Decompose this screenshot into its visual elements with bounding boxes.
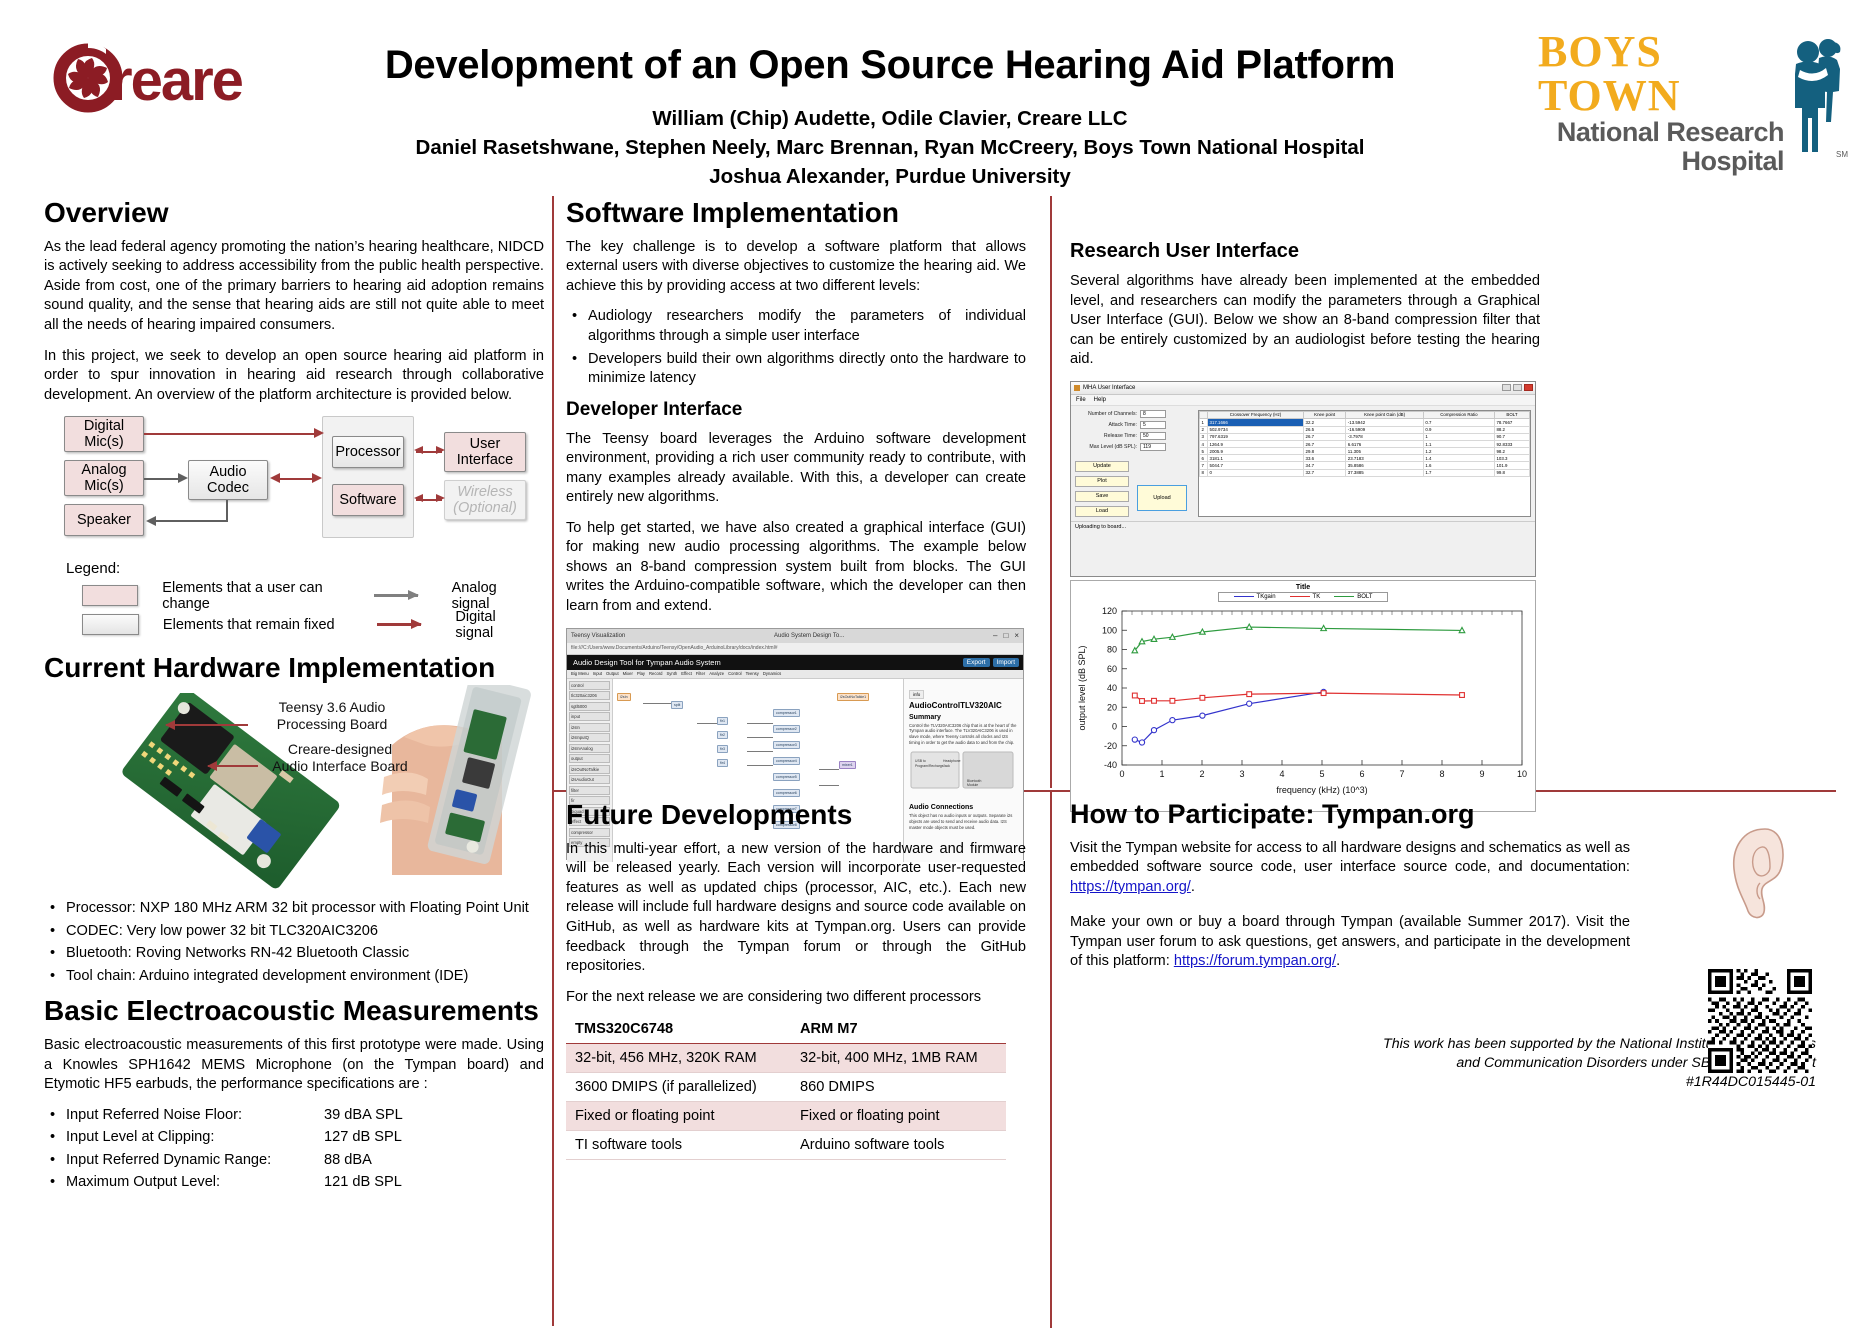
label-number-of-channels: Number of Channels: [1075, 411, 1137, 417]
palette-item-0[interactable]: control [569, 681, 610, 690]
table-row: Fixed or floating point Fixed or floatin… [566, 1102, 1006, 1131]
grid-cell-r0c3[interactable]: -13.5942 [1346, 419, 1424, 426]
palette-item-2[interactable]: sgtl5000 [569, 702, 610, 711]
legend-label-digital-signal: Digital signal [455, 609, 536, 641]
legend-row-fixed: Elements that remain fixed Digital signa… [66, 610, 536, 639]
mha-user-interface-screenshot[interactable]: MHA User Interface File Help Number of C… [1070, 381, 1536, 577]
left-column: Overview As the lead federal agency prom… [44, 198, 544, 1203]
info-summary-text: Control the TLV320AIC3206 chip that is a… [909, 723, 1018, 746]
menu-item-9[interactable]: Analyze [709, 671, 724, 676]
grid-cell-r5c3[interactable]: 23.7183 [1346, 455, 1424, 462]
info-summary-heading: Summary [909, 714, 1018, 721]
diagram-legend: Legend: Elements that a user can change … [66, 560, 536, 639]
grid-cell-r0c1[interactable]: 317.1666 [1208, 419, 1304, 426]
grid-cell-r4c2[interactable]: 29.8 [1304, 448, 1346, 455]
svg-text:100: 100 [1102, 625, 1117, 635]
grid-cell-r7c2[interactable]: 32.7 [1304, 469, 1346, 476]
menu-item-8[interactable]: Filter [696, 671, 705, 676]
software-paragraph-1: The key challenge is to develop a softwa… [566, 238, 1026, 297]
palette-item-6[interactable]: i2sInAnalog [569, 744, 610, 753]
plot-svg: -40-20020406080100120012345678910frequen… [1074, 603, 1534, 799]
plot-button[interactable]: Plot [1075, 476, 1129, 487]
load-button[interactable]: Load [1075, 506, 1129, 517]
hardware-bullet-bluetooth: Bluetooth: Roving Networks RN-42 Bluetoo… [44, 944, 544, 964]
menu-item-10[interactable]: Control [728, 671, 742, 676]
palette-item-1[interactable]: tlc320aic3206 [569, 691, 610, 700]
grid-cell-r5c5[interactable]: 103.3 [1494, 455, 1529, 462]
canvas-wire-3 [747, 737, 773, 738]
canvas-block-input[interactable]: i2sIn [617, 693, 631, 701]
spec-noise-floor-label: Input Referred Noise Floor: [66, 1106, 324, 1126]
speaker-label: Speaker [77, 512, 131, 529]
mha-window-title: MHA User Interface [1083, 385, 1135, 391]
grid-row[interactable]: 2502.973426.5-16.59090.988.2 [1200, 426, 1530, 433]
grid-cell-r3c3[interactable]: 6.6176 [1346, 440, 1424, 447]
legend-swatch-grey [82, 614, 139, 635]
legend-line-tkgain [1234, 596, 1254, 598]
menu-item-5[interactable]: Record [649, 671, 663, 676]
digital-mic-label-2: Mic(s) [84, 434, 123, 450]
palette-item-4[interactable]: i2sIn [569, 723, 610, 732]
title-block: Development of an Open Source Hearing Ai… [300, 42, 1480, 191]
grid-cell-r5c0[interactable]: 6 [1200, 455, 1208, 462]
design-tool-menu-strip: Big Menu Input Output Mixer Play Record … [567, 670, 1023, 679]
grid-row[interactable]: 41264.926.76.61761.192.8333 [1200, 440, 1530, 447]
arrow-codec-processor-bidirectional [278, 478, 314, 480]
grid-cell-r0c2[interactable]: 32.2 [1304, 419, 1346, 426]
canvas-block-comp-6[interactable]: compressor6 [773, 789, 800, 797]
center-column-upper: Software Implementation The key challeng… [566, 198, 1026, 860]
palette-item-10[interactable]: filter [569, 786, 610, 795]
audio-codec-label-1: Audio [209, 464, 246, 480]
minimize-icon[interactable]: – [993, 631, 997, 640]
menu-item-0[interactable]: Big Menu [571, 671, 589, 676]
spec-clipping-label: Input Level at Clipping: [66, 1128, 324, 1148]
cell-r3c1: Arduino software tools [791, 1131, 1006, 1160]
menu-item-6[interactable]: Synth [667, 671, 678, 676]
svg-text:20: 20 [1107, 702, 1117, 712]
grid-cell-r5c2[interactable]: 33.6 [1304, 455, 1346, 462]
legend-label-user-changeable: Elements that a user can change [162, 580, 373, 612]
palette-item-9[interactable]: i2sAudioOut [569, 775, 610, 784]
authors-line-1: William (Chip) Audette, Odile Clavier, C… [300, 104, 1480, 133]
arrowhead-analog-mic [178, 473, 188, 483]
mha-maximize-icon[interactable] [1513, 384, 1522, 391]
legend-label-fixed: Elements that remain fixed [163, 617, 377, 633]
tympan-org-link[interactable]: https://tympan.org/ [1070, 879, 1191, 895]
grid-row[interactable]: 52005.929.811.3051.298.2 [1200, 448, 1530, 455]
audio-codec-label-2: Codec [207, 480, 249, 496]
grid-cell-r6c0[interactable]: 7 [1200, 462, 1208, 469]
diagram-node-user-interface: User Interface [444, 432, 526, 472]
legend-line-tk [1290, 596, 1310, 598]
canvas-block-filter-3[interactable]: fir3 [717, 745, 728, 753]
grid-cell-r1c1[interactable]: 502.9734 [1208, 426, 1304, 433]
mha-minimize-icon[interactable] [1502, 384, 1511, 391]
save-button[interactable]: Save [1075, 491, 1129, 502]
svg-text:6: 6 [1359, 769, 1364, 779]
future-heading: Future Developments [566, 800, 1026, 831]
processor-comparison-table: TMS320C6748 ARM M7 32-bit, 456 MHz, 320K… [566, 1015, 1006, 1160]
maximize-icon[interactable]: □ [1003, 631, 1008, 640]
svg-text:Module: Module [967, 783, 978, 787]
spec-max-output: Maximum Output Level: 121 dB SPL [44, 1173, 544, 1193]
grid-cell-r3c0[interactable]: 4 [1200, 440, 1208, 447]
mha-parameter-panel: Number of Channels: 8 Attack Time: 5 Rel… [1075, 410, 1193, 517]
funding-line-2: and Communication Disorders under SBIR P… [1070, 1054, 1816, 1073]
canvas-block-mixer[interactable]: mixer1 [839, 761, 856, 769]
menu-item-11[interactable]: Teensy [746, 671, 759, 676]
info-device-thumbnail: USB to Program/Recharge Headphone Jack B… [909, 748, 1017, 792]
poster-header: reare Development of an Open Source Hear… [0, 0, 1864, 205]
grid-row[interactable]: 75044.734.735.85861.6101.9 [1200, 462, 1530, 469]
spec-clipping-value: 127 dB SPL [324, 1128, 402, 1148]
authors-line-3: Joshua Alexander, Purdue University [300, 162, 1480, 191]
arrowhead-wireless-left [414, 494, 423, 502]
field-max-level[interactable]: Max Level (dB SPL): 119 [1075, 443, 1193, 451]
grid-row[interactable]: 1317.166632.2-13.59420.778.7667 [1200, 419, 1530, 426]
overview-heading: Overview [44, 198, 544, 229]
legend-item-tkgain: TKgain [1234, 594, 1276, 600]
grid-cell-r2c3[interactable]: -3.7978 [1346, 433, 1424, 440]
table-header-tms: TMS320C6748 [566, 1015, 791, 1044]
svg-text:Jack: Jack [943, 764, 950, 768]
participate-p2-text: Make your own or buy a board through Tym… [1070, 914, 1630, 969]
diagram-node-software: Software [332, 484, 404, 516]
input-number-of-channels[interactable]: 8 [1140, 410, 1166, 418]
mha-titlebar: MHA User Interface [1071, 382, 1535, 395]
grid-cell-r4c1[interactable]: 2005.9 [1208, 448, 1304, 455]
future-paragraph-1: In this multi-year effort, a new version… [566, 840, 1026, 977]
divider-center-right-lower [1050, 790, 1052, 1328]
grid-cell-r6c4[interactable]: 1.6 [1423, 462, 1494, 469]
callout-interface-line2: Audio Interface Board [250, 758, 430, 776]
legend-swatch-pink [82, 585, 138, 606]
svg-text:60: 60 [1107, 663, 1117, 673]
hardware-bullet-codec: CODEC: Very low power 32 bit TLC320AIC32… [44, 922, 544, 942]
grid-cell-r2c2[interactable]: 26.7 [1304, 433, 1346, 440]
grid-cell-r1c2[interactable]: 26.5 [1304, 426, 1346, 433]
svg-text:0: 0 [1119, 769, 1124, 779]
grid-header-4: BOLT [1494, 411, 1529, 419]
hardware-heading: Current Hardware Implementation [44, 653, 544, 684]
arrowhead-ui-left [414, 446, 423, 454]
menu-item-12[interactable]: Dynamics [763, 671, 781, 676]
palette-item-3[interactable]: input [569, 712, 610, 721]
diagram-node-speaker: Speaker [64, 504, 144, 536]
arrow-analog-mic-to-codec [144, 478, 180, 480]
qr-code[interactable] [1708, 969, 1812, 1073]
field-number-of-channels[interactable]: Number of Channels: 8 [1075, 410, 1193, 418]
participate-p2-period: . [1336, 953, 1340, 969]
wireless-label-2: (Optional) [453, 500, 517, 516]
canvas-wire-1 [697, 723, 717, 724]
svg-text:0: 0 [1112, 721, 1117, 731]
boystown-nrh-line2: Hospital [1538, 147, 1784, 176]
browser-url-text: file:///C:/Users/www.Documents/Arduino/T… [571, 645, 778, 651]
callout-teensy-line2: Processing Board [252, 716, 412, 734]
grid-cell-r3c1[interactable]: 1264.9 [1208, 440, 1304, 447]
software-bullet-list: Audiology researchers modify the paramet… [566, 307, 1026, 388]
import-button[interactable]: Import [993, 658, 1019, 667]
callout-teensy-board: Teensy 3.6 Audio Processing Board [252, 699, 412, 734]
mha-parameter-grid[interactable]: Crossover Frequency (Hz) Knee point Knee… [1198, 410, 1531, 517]
grid-cell-r7c4[interactable]: 1.7 [1423, 469, 1494, 476]
grid-cell-r7c3[interactable]: 37.3885 [1346, 469, 1424, 476]
funding-line-1: This work has been supported by the Nati… [1070, 1035, 1816, 1054]
canvas-block-filter-2[interactable]: fir2 [717, 731, 728, 739]
legend-title: Legend: [66, 560, 536, 577]
field-release-time[interactable]: Release Time: 50 [1075, 432, 1193, 440]
legend-label-analog-signal: Analog signal [452, 580, 536, 612]
cell-r0c1: 32-bit, 400 MHz, 1MB RAM [791, 1044, 1006, 1073]
cell-r2c1: Fixed or floating point [791, 1102, 1006, 1131]
hardware-photos: Teensy 3.6 Audio Processing Board Creare… [44, 693, 544, 893]
callout-line-teensy [166, 724, 248, 726]
grid-cell-r1c4[interactable]: 0.9 [1423, 426, 1494, 433]
svg-text:120: 120 [1102, 606, 1117, 616]
label-attack-time: Attack Time: [1075, 422, 1137, 428]
canvas-wire-2 [747, 723, 773, 724]
canvas-block-comp-3[interactable]: compressor3 [773, 741, 800, 749]
grid-cell-r1c3[interactable]: -16.5909 [1346, 426, 1424, 433]
input-max-level[interactable]: 119 [1140, 443, 1166, 451]
canvas-block-comp-2[interactable]: compressor2 [773, 725, 800, 733]
grid-cell-r5c4[interactable]: 1.4 [1423, 455, 1494, 462]
svg-text:USB to: USB to [915, 759, 926, 763]
grid-cell-r6c3[interactable]: 35.8586 [1346, 462, 1424, 469]
grid-cell-r4c0[interactable]: 5 [1200, 448, 1208, 455]
canvas-block-comp-4[interactable]: compressor4 [773, 757, 800, 765]
grid-cell-r1c5[interactable]: 88.2 [1494, 426, 1529, 433]
software-heading: Software Implementation [566, 198, 1026, 229]
compression-plot: Title TKgain TK BOLT -40-200204060801001… [1070, 580, 1536, 812]
table-row: 3600 DMIPS (if parallelized) 860 DMIPS [566, 1073, 1006, 1102]
diagram-node-analog-mic: Analog Mic(s) [64, 460, 144, 496]
arrow-digital-mic-to-processor [144, 433, 314, 435]
cell-r0c0: 32-bit, 456 MHz, 320K RAM [566, 1044, 791, 1073]
canvas-block-comp-5[interactable]: compressor5 [773, 773, 800, 781]
analog-signal-arrow-icon [374, 594, 418, 597]
right-column-upper: Research User Interface Several algorith… [1070, 240, 1540, 812]
grid-cell-r3c2[interactable]: 26.7 [1304, 440, 1346, 447]
canvas-block-split[interactable]: split [671, 701, 683, 709]
close-icon[interactable]: × [1014, 631, 1019, 640]
svg-text:Program/Recharge: Program/Recharge [915, 764, 944, 768]
palette-item-5[interactable]: i2sInputQ [569, 733, 610, 742]
grid-cell-r6c2[interactable]: 34.7 [1304, 462, 1346, 469]
user-interface-label-2: Interface [457, 452, 513, 468]
arrow-codec-to-speaker-vertical [226, 500, 228, 522]
grid-cell-r1c0[interactable]: 2 [1200, 426, 1208, 433]
svg-text:9: 9 [1479, 769, 1484, 779]
legend-row-user-changeable: Elements that a user can change Analog s… [66, 581, 536, 610]
browser-titlebar: Teensy Visualization Audio System Design… [567, 629, 1023, 643]
arrowhead-ui-right [436, 446, 445, 454]
svg-text:7: 7 [1399, 769, 1404, 779]
grid-cell-r4c3[interactable]: 11.305 [1346, 448, 1424, 455]
mha-status-bar: Uploading to board... [1071, 521, 1535, 532]
developer-paragraph-1: The Teensy board leverages the Arduino s… [566, 430, 1026, 508]
callout-teensy-line1: Teensy 3.6 Audio [252, 699, 412, 717]
grid-cell-r2c5[interactable]: 90.7 [1494, 433, 1529, 440]
grid-cell-r2c4[interactable]: 1 [1423, 433, 1494, 440]
update-button[interactable]: Update [1075, 461, 1129, 472]
menu-item-2[interactable]: Output [606, 671, 619, 676]
canvas-wire-4 [747, 751, 773, 752]
grid-cell-r2c0[interactable]: 3 [1200, 433, 1208, 440]
callout-audio-interface-board: Creare-designed Audio Interface Board [250, 741, 430, 776]
svg-text:1: 1 [1159, 769, 1164, 779]
browser-address-bar[interactable]: file:///C:/Users/www.Documents/Arduino/T… [567, 643, 1023, 655]
legend-label-tk: TK [1313, 594, 1321, 600]
export-button[interactable]: Export [963, 658, 990, 667]
svg-text:-40: -40 [1104, 760, 1117, 770]
platform-architecture-diagram: Digital Mic(s) Analog Mic(s) Speaker Aud… [64, 416, 534, 556]
grid-cell-r6c5[interactable]: 101.9 [1494, 462, 1529, 469]
spec-dynamic-range-value: 88 dBA [324, 1151, 372, 1171]
svg-text:2: 2 [1199, 769, 1204, 779]
poster-title: Development of an Open Source Hearing Ai… [300, 42, 1480, 88]
plot-legend: TKgain TK BOLT [1218, 592, 1388, 602]
palette-item-8[interactable]: i2sOutNoTalkie [569, 765, 610, 774]
boystown-figures-icon [1786, 36, 1844, 158]
qr-code-svg [1708, 969, 1812, 1073]
diagram-node-wireless-optional: Wireless (Optional) [444, 480, 526, 520]
grid-cell-r2c1[interactable]: 797.6319 [1208, 433, 1304, 440]
grid-header-2: Knee point Gain (dB) [1346, 411, 1424, 419]
ear-illustration-icon [1722, 825, 1808, 921]
boystown-nrh-line1: National Research [1538, 118, 1784, 147]
label-release-time: Release Time: [1075, 433, 1137, 439]
future-paragraph-2: For the next release we are considering … [566, 988, 1026, 1008]
grid-cell-r0c5[interactable]: 78.7667 [1494, 419, 1529, 426]
wireless-label-1: Wireless [457, 484, 512, 500]
boystown-wordmark: BOYS TOWN [1538, 30, 1784, 118]
canvas-block-filter-4[interactable]: fir4 [717, 759, 728, 767]
grid-row[interactable]: 3797.631926.7-3.7978190.7 [1200, 433, 1530, 440]
diagram-node-audio-codec: Audio Codec [188, 460, 268, 500]
user-interface-label-1: User [470, 436, 501, 452]
table-row: TI software tools Arduino software tools [566, 1131, 1006, 1160]
cell-r3c0: TI software tools [566, 1131, 791, 1160]
grid-cell-r4c5[interactable]: 98.2 [1494, 448, 1529, 455]
mha-menu-help[interactable]: Help [1094, 397, 1106, 403]
legend-line-bolt [1334, 596, 1354, 598]
divider-center-right [1050, 196, 1052, 788]
grid-cell-r7c5[interactable]: 99.8 [1494, 469, 1529, 476]
arrowhead-digital-mic [314, 428, 324, 438]
developer-interface-heading: Developer Interface [566, 399, 1026, 421]
grid-row[interactable]: 63181.133.623.71831.4103.3 [1200, 455, 1530, 462]
grid-cell-r0c0[interactable]: 1 [1200, 419, 1208, 426]
hardware-bullet-list: Processor: NXP 180 MHz ARM 32 bit proces… [44, 899, 544, 986]
grid-cell-r5c1[interactable]: 3181.1 [1208, 455, 1304, 462]
grid-header-1: Knee point [1304, 411, 1346, 419]
arrow-codec-to-speaker [156, 520, 228, 522]
svg-text:Headphone: Headphone [943, 759, 961, 763]
grid-cell-r6c1[interactable]: 5044.7 [1208, 462, 1304, 469]
forum-tympan-org-link[interactable]: https://forum.tympan.org/ [1174, 953, 1336, 969]
svg-text:frequency (kHz) (10^3): frequency (kHz) (10^3) [1276, 785, 1367, 795]
canvas-block-comp-1[interactable]: compressor1 [773, 709, 800, 717]
svg-text:8: 8 [1439, 769, 1444, 779]
mha-app-icon [1074, 385, 1080, 391]
menu-item-7[interactable]: Effect [681, 671, 692, 676]
input-release-time[interactable]: 50 [1140, 432, 1166, 440]
measurements-spec-list: Input Referred Noise Floor: 39 dBA SPL I… [44, 1106, 544, 1193]
svg-text:4: 4 [1279, 769, 1284, 779]
grid-header-0: Crossover Frequency (Hz) [1208, 411, 1304, 419]
grid-cell-r0c4[interactable]: 0.7 [1423, 419, 1494, 426]
menu-item-1[interactable]: Input [593, 671, 602, 676]
input-attack-time[interactable]: 5 [1140, 421, 1166, 429]
legend-label-tkgain: TKgain [1257, 594, 1276, 600]
grid-cell-r3c4[interactable]: 1.1 [1423, 440, 1494, 447]
software-label: Software [339, 492, 396, 509]
spec-noise-floor: Input Referred Noise Floor: 39 dBA SPL [44, 1106, 544, 1126]
canvas-block-output[interactable]: i2sOutNoTalkie1 [837, 693, 869, 701]
mha-close-icon[interactable] [1524, 384, 1533, 391]
diagram-panel-processing [322, 416, 414, 538]
canvas-block-filter-1[interactable]: fir1 [717, 717, 728, 725]
digital-mic-label-1: Digital [84, 418, 124, 434]
canvas-wire-5 [747, 765, 773, 766]
measurements-paragraph: Basic electroacoustic measurements of th… [44, 1036, 544, 1095]
info-tab[interactable]: info [909, 690, 924, 699]
browser-tab-1[interactable]: Teensy Visualization [567, 633, 625, 639]
grid-header-3: Compression Ratio [1423, 411, 1494, 419]
grid-cell-r4c4[interactable]: 1.2 [1423, 448, 1494, 455]
cell-r1c1: 860 DMIPS [791, 1073, 1006, 1102]
grid-row[interactable]: 8032.737.38851.799.8 [1200, 469, 1530, 476]
arrowhead-codec-right [312, 473, 322, 483]
analog-mic-label-1: Analog [81, 462, 126, 478]
svg-text:5: 5 [1319, 769, 1324, 779]
mha-body: Number of Channels: 8 Attack Time: 5 Rel… [1071, 406, 1535, 521]
legend-item-bolt: BOLT [1334, 594, 1372, 600]
grid-cell-r7c0[interactable]: 8 [1200, 469, 1208, 476]
upload-button[interactable]: Upload [1137, 485, 1187, 511]
funding-line-3: #1R44DC015445-01 [1070, 1073, 1816, 1092]
processor-label: Processor [335, 444, 400, 461]
spec-noise-floor-value: 39 dBA SPL [324, 1106, 403, 1126]
palette-item-7[interactable]: output [569, 754, 610, 763]
grid-cell-r7c1[interactable]: 0 [1208, 469, 1304, 476]
grid-body: 1317.166632.2-13.59420.778.76672502.9734… [1200, 419, 1530, 477]
arrowhead-speaker [146, 516, 156, 526]
menu-item-3[interactable]: Mixer [623, 671, 633, 676]
field-attack-time[interactable]: Attack Time: 5 [1075, 421, 1193, 429]
spec-max-output-value: 121 dB SPL [324, 1173, 402, 1193]
legend-arrow-digital [377, 623, 446, 626]
plot-title: Title [1074, 584, 1532, 591]
menu-item-4[interactable]: Play [637, 671, 645, 676]
mha-menu-file[interactable]: File [1076, 397, 1086, 403]
funding-acknowledgement: This work has been supported by the Nati… [1070, 1035, 1816, 1093]
canvas-wire-0 [643, 703, 671, 704]
canvas-wire-6 [819, 769, 839, 770]
grid-cell-r3c5[interactable]: 92.8333 [1494, 440, 1529, 447]
browser-tab-2[interactable]: Audio System Design To... [774, 633, 844, 639]
hardware-bullet-toolchain: Tool chain: Arduino integrated developme… [44, 967, 544, 987]
mha-menubar: File Help [1071, 395, 1535, 406]
svg-text:3: 3 [1239, 769, 1244, 779]
spec-clipping: Input Level at Clipping: 127 dB SPL [44, 1128, 544, 1148]
digital-signal-arrow-icon [377, 623, 421, 626]
measurements-heading: Basic Electroacoustic Measurements [44, 996, 544, 1027]
arrowhead-wireless-right [436, 494, 445, 502]
